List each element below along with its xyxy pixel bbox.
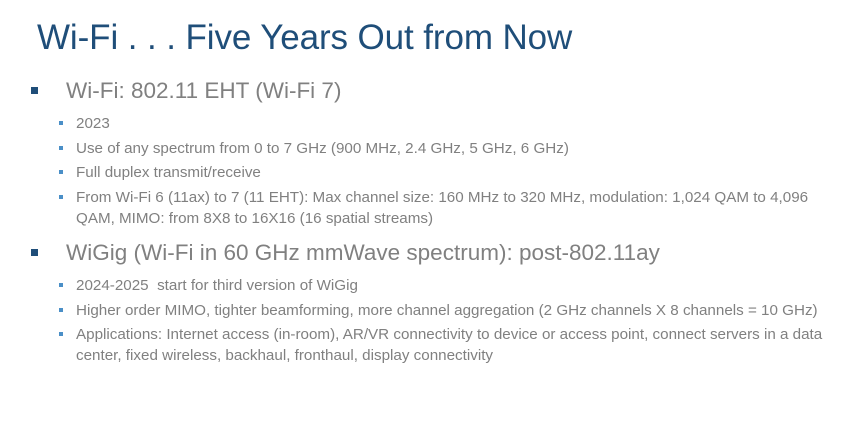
list-item-label: Higher order MIMO, tighter beamforming, … bbox=[76, 300, 841, 321]
list-item[interactable]: Higher order MIMO, tighter beamforming, … bbox=[0, 300, 853, 321]
square-bullet-icon bbox=[31, 249, 38, 256]
square-bullet-icon bbox=[31, 87, 38, 94]
list-item-label: 2023 bbox=[76, 113, 841, 134]
list-item-label: 2024-2025 start for third version of WiG… bbox=[76, 275, 841, 296]
list-item[interactable]: 2024-2025 start for third version of WiG… bbox=[0, 275, 853, 296]
small-square-bullet-icon bbox=[59, 332, 63, 336]
small-square-bullet-icon bbox=[59, 121, 63, 125]
bullet-list: Wi-Fi: 802.11 EHT (Wi-Fi 7) 2023 Use of … bbox=[0, 76, 853, 370]
slide: Wi-Fi . . . Five Years Out from Now Wi-F… bbox=[0, 0, 853, 438]
small-square-bullet-icon bbox=[59, 146, 63, 150]
list-item-label: Applications: Internet access (in-room),… bbox=[76, 324, 841, 366]
small-square-bullet-icon bbox=[59, 308, 63, 312]
list-item[interactable]: Applications: Internet access (in-room),… bbox=[0, 324, 853, 366]
list-item[interactable]: 2023 bbox=[0, 113, 853, 134]
list-item[interactable]: Use of any spectrum from 0 to 7 GHz (900… bbox=[0, 138, 853, 159]
list-item-label: WiGig (Wi-Fi in 60 GHz mmWave spectrum):… bbox=[66, 238, 833, 268]
list-item[interactable]: Full duplex transmit/receive bbox=[0, 162, 853, 183]
small-square-bullet-icon bbox=[59, 170, 63, 174]
list-item-label: Use of any spectrum from 0 to 7 GHz (900… bbox=[76, 138, 841, 159]
list-item-label: Full duplex transmit/receive bbox=[76, 162, 841, 183]
list-item-label: From Wi-Fi 6 (11ax) to 7 (11 EHT): Max c… bbox=[76, 187, 841, 229]
list-item[interactable]: WiGig (Wi-Fi in 60 GHz mmWave spectrum):… bbox=[0, 238, 853, 268]
list-item-label: Wi-Fi: 802.11 EHT (Wi-Fi 7) bbox=[66, 76, 833, 106]
small-square-bullet-icon bbox=[59, 283, 63, 287]
small-square-bullet-icon bbox=[59, 195, 63, 199]
list-item[interactable]: Wi-Fi: 802.11 EHT (Wi-Fi 7) bbox=[0, 76, 853, 106]
page-title: Wi-Fi . . . Five Years Out from Now bbox=[37, 17, 827, 58]
list-item[interactable]: From Wi-Fi 6 (11ax) to 7 (11 EHT): Max c… bbox=[0, 187, 853, 229]
